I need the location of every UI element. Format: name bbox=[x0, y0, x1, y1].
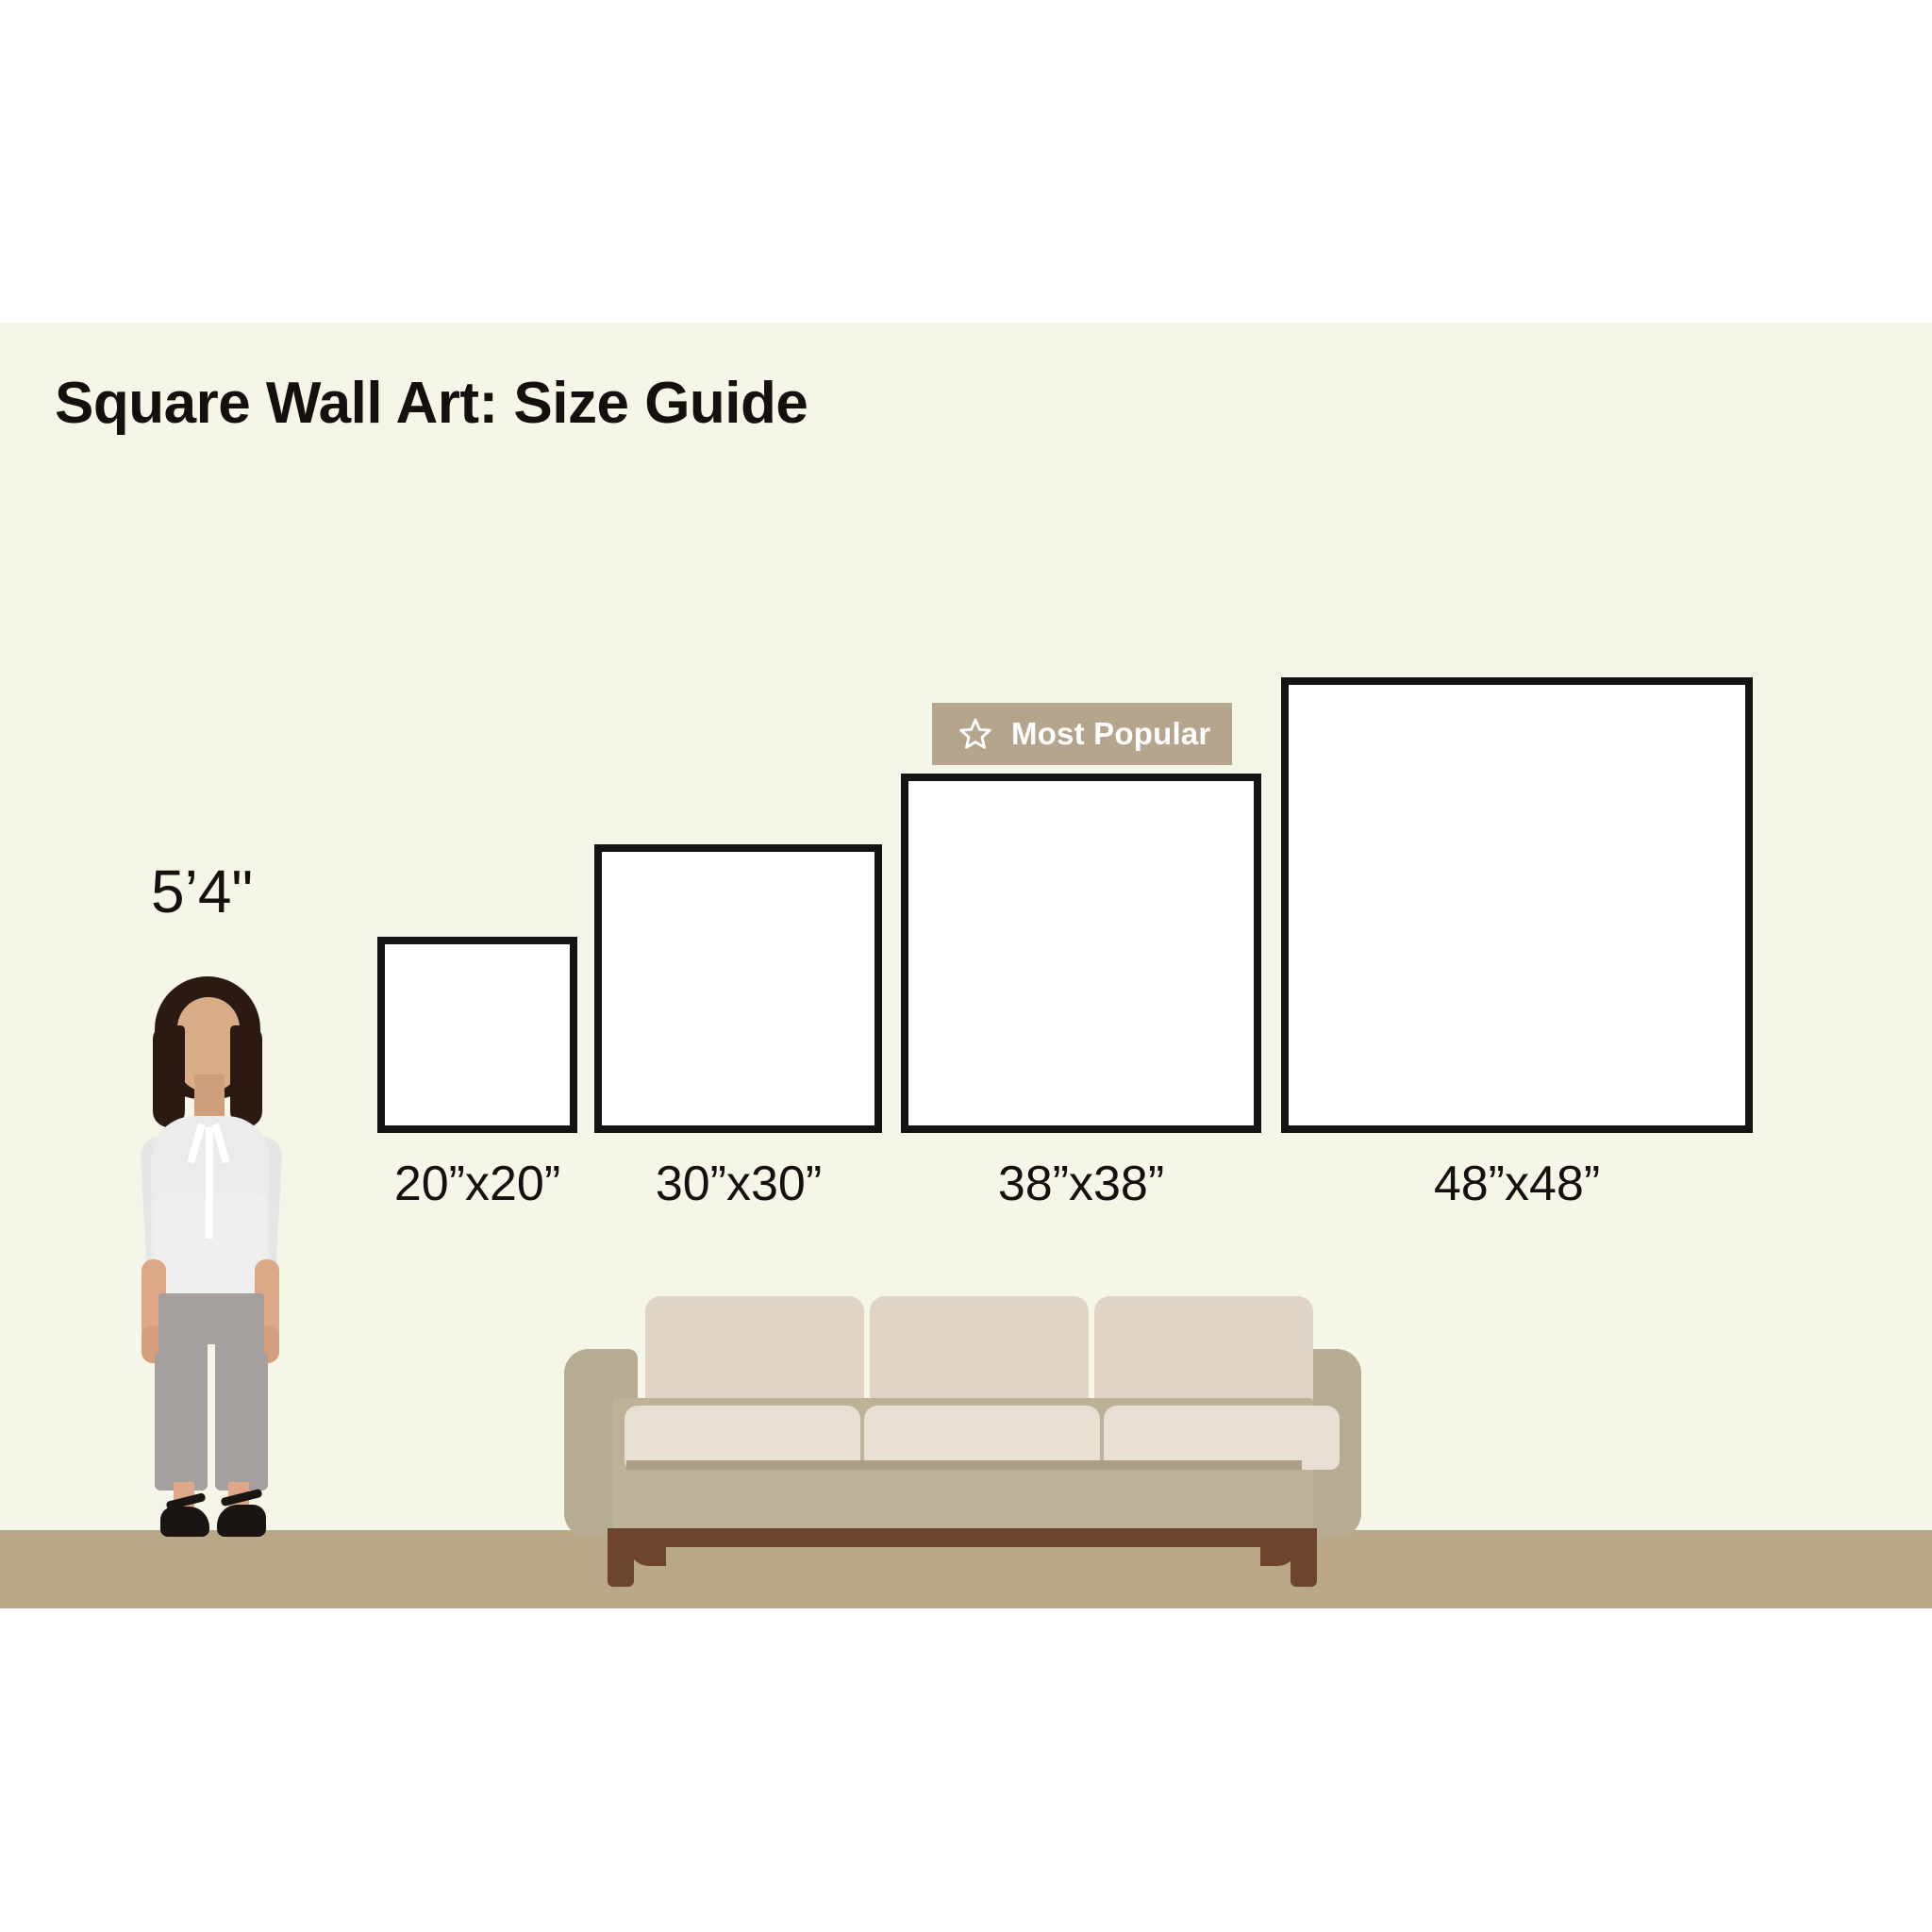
sofa-seat-shadow bbox=[626, 1460, 1302, 1470]
pants-leg-right bbox=[215, 1354, 268, 1491]
art-frame-30-label: 30”x30” bbox=[601, 1156, 876, 1212]
art-frame-20[interactable] bbox=[377, 937, 577, 1133]
blouse-placket bbox=[206, 1127, 213, 1239]
hair-side-left bbox=[153, 1025, 185, 1127]
sofa-brace-left bbox=[628, 1541, 666, 1566]
person-scale-figure bbox=[130, 976, 319, 1542]
shoe-left bbox=[160, 1507, 209, 1537]
person-height-label: 5’4" bbox=[151, 857, 253, 926]
art-frame-30[interactable] bbox=[594, 844, 882, 1133]
pants-seam bbox=[208, 1344, 215, 1486]
most-popular-badge[interactable]: Most Popular bbox=[932, 703, 1232, 765]
art-frame-38[interactable] bbox=[901, 774, 1261, 1133]
sofa-leg-left bbox=[608, 1528, 634, 1587]
sofa-leg-right bbox=[1291, 1528, 1317, 1587]
art-frame-20-label: 20”x20” bbox=[340, 1156, 615, 1212]
pants-leg-left bbox=[155, 1354, 208, 1491]
sofa bbox=[564, 1275, 1361, 1570]
art-frame-48-label: 48”x48” bbox=[1379, 1156, 1655, 1212]
most-popular-badge-label: Most Popular bbox=[1011, 716, 1210, 752]
page-title: Square Wall Art: Size Guide bbox=[55, 370, 808, 437]
hair-side-right bbox=[230, 1025, 262, 1127]
art-frame-38-label: 38”x38” bbox=[943, 1156, 1219, 1212]
sofa-base-rail bbox=[608, 1528, 1317, 1547]
size-guide-infographic: Square Wall Art: Size Guide 5’4" 20”x2 bbox=[0, 0, 1932, 1932]
shoe-right bbox=[217, 1505, 266, 1537]
art-frame-48[interactable] bbox=[1281, 677, 1753, 1133]
star-outline-icon bbox=[957, 715, 994, 753]
